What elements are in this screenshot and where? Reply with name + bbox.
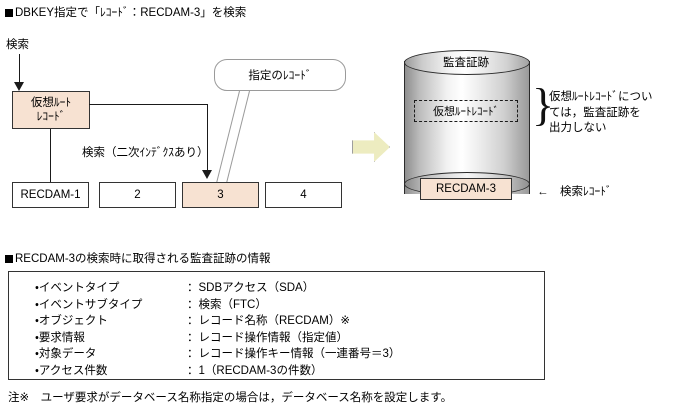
table-row: ・イベントサブタイプ ： 検索（FTC）	[35, 297, 400, 314]
row-colon-2: ：	[187, 313, 199, 330]
record-box-0-label: RECDAM-1	[20, 189, 80, 202]
connector-horizontal-top	[89, 104, 208, 105]
audit-info-panel: ・イベントタイプ ： SDBアクセス（SDA） ・イベントサブタイプ ： 検索（…	[8, 271, 545, 380]
table-row: ・要求情報 ： レコード操作情報（指定値）	[35, 330, 400, 347]
connector-vertical-to-record3	[207, 104, 208, 172]
row-colon-1: ：	[187, 297, 199, 314]
row-key-1: ・イベントサブタイプ	[35, 297, 187, 314]
record-box-1-label: 2	[134, 189, 140, 202]
cylinder-title: 監査証跡	[404, 54, 528, 70]
row-value-5: 1（RECDAM-3の件数）	[199, 363, 401, 380]
square-bullet-icon	[5, 9, 13, 17]
row-value-1: 検索（FTC）	[199, 297, 401, 314]
cylinder-annotation-line3: 出力しない	[549, 121, 653, 137]
table-row: ・アクセス件数 ： 1（RECDAM-3の件数）	[35, 363, 400, 380]
section1-heading: DBKEY指定で「ﾚｺｰﾄﾞ：RECDAM-3」を検索	[5, 6, 246, 20]
row-colon-0: ：	[187, 280, 199, 297]
callout-leader-line-2	[226, 91, 250, 183]
row-value-3: レコード操作情報（指定値）	[199, 330, 401, 347]
record-box-3-label: 4	[300, 189, 306, 202]
record-box-1: 2	[99, 182, 176, 208]
audit-info-table-body: ・イベントタイプ ： SDBアクセス（SDA） ・イベントサブタイプ ： 検索（…	[35, 280, 400, 379]
record-box-2: 3	[182, 182, 259, 208]
connector-vertical-to-record1	[50, 129, 51, 182]
row-key-3: ・要求情報	[35, 330, 187, 347]
cylinder-record-box-label: RECDAM-3	[436, 183, 496, 196]
row-key-0: ・イベントタイプ	[35, 280, 187, 297]
section2-heading-text: RECDAM-3の検索時に取得される監査証跡の情報	[15, 253, 271, 265]
row-colon-4: ：	[187, 346, 199, 363]
cylinder-annotation: 仮想ﾙｰﾄﾚｺｰﾄﾞについ ては，監査証跡を 出力しない	[549, 90, 653, 137]
cylinder-record-box: RECDAM-3	[420, 178, 512, 200]
table-row: ・対象データ ： レコード操作キー情報（一連番号＝3）	[35, 346, 400, 363]
table-row: ・イベントタイプ ： SDBアクセス（SDA）	[35, 280, 400, 297]
search-index-label: 検索（二次ｲﾝﾃﾞｸｽあり）	[82, 144, 209, 160]
callout-bubble-text: 指定のﾚｺｰﾄﾞ	[248, 67, 311, 83]
search-label: 検索	[6, 36, 29, 52]
footnote: 注※ ユーザ要求がデータベース名称指定の場合は，データベース名称を設定します。	[8, 391, 452, 406]
cylinder-annotation-line2: ては，監査証跡を	[549, 106, 653, 122]
row-key-5: ・アクセス件数	[35, 363, 187, 380]
cylinder-annotation-line1: 仮想ﾙｰﾄﾚｺｰﾄﾞについ	[549, 90, 653, 106]
row-colon-3: ：	[187, 330, 199, 347]
virtual-root-line1: 仮想ﾙｰﾄ	[31, 96, 71, 110]
row-value-4: レコード操作キー情報（一連番号＝3）	[199, 346, 401, 363]
flow-arrow-icon	[352, 132, 390, 162]
audit-info-table: ・イベントタイプ ： SDBアクセス（SDA） ・イベントサブタイプ ： 検索（…	[35, 280, 400, 379]
section2-heading: RECDAM-3の検索時に取得される監査証跡の情報	[5, 252, 271, 266]
record-box-0: RECDAM-1	[12, 182, 89, 208]
square-bullet-icon-2	[5, 255, 13, 263]
virtual-root-line2: ﾚｺｰﾄﾞ	[37, 110, 66, 124]
audit-trail-cylinder: 監査証跡 仮想ﾙｰﾄﾚｺｰﾄﾞ RECDAM-3	[404, 50, 528, 210]
search-record-annotation: ← 検索ﾚｺｰﾄﾞ	[537, 185, 612, 201]
row-colon-5: ：	[187, 363, 199, 380]
row-value-2: レコード名称（RECDAM）※	[199, 313, 401, 330]
row-key-4: ・対象データ	[35, 346, 187, 363]
table-row: ・オブジェクト ： レコード名称（RECDAM）※	[35, 313, 400, 330]
callout-bubble-specified-record: 指定のﾚｺｰﾄﾞ	[214, 59, 346, 91]
cylinder-virtual-root-record: 仮想ﾙｰﾄﾚｺｰﾄﾞ	[414, 100, 518, 122]
connector-arrowhead-record3	[202, 170, 212, 179]
record-box-2-label: 3	[217, 189, 223, 202]
search-arrow-head	[14, 82, 24, 91]
cylinder-virtual-root-record-label: 仮想ﾙｰﾄﾚｺｰﾄﾞ	[433, 103, 499, 119]
record-box-3: 4	[265, 182, 342, 208]
virtual-root-record-box: 仮想ﾙｰﾄ ﾚｺｰﾄﾞ	[12, 91, 90, 129]
row-value-0: SDBアクセス（SDA）	[199, 280, 401, 297]
row-key-2: ・オブジェクト	[35, 313, 187, 330]
search-arrow-shaft	[19, 54, 20, 84]
section1-heading-text: DBKEY指定で「ﾚｺｰﾄﾞ：RECDAM-3」を検索	[15, 7, 246, 19]
